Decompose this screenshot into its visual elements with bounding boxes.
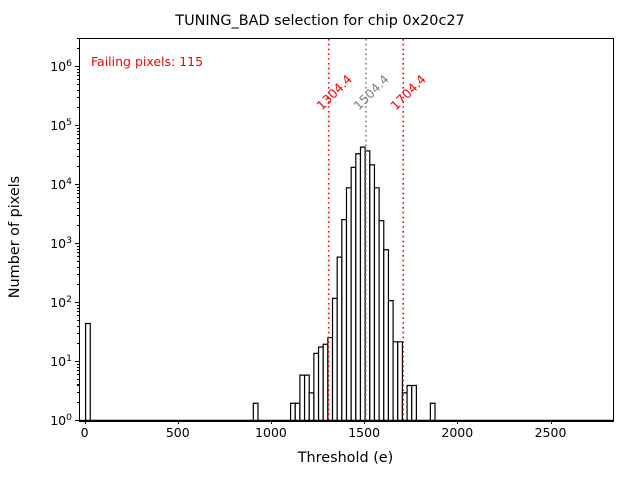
chart-title: TUNING_BAD selection for chip 0x20c27 xyxy=(0,13,640,29)
y-minor-tick-mark xyxy=(77,134,79,135)
y-minor-tick-mark xyxy=(77,202,79,203)
y-tick-mark xyxy=(75,66,79,67)
y-minor-tick-mark xyxy=(77,131,79,132)
y-minor-tick-mark xyxy=(77,374,79,375)
y-minor-tick-mark xyxy=(77,370,79,371)
threshold-vertical-lines xyxy=(80,39,613,421)
y-minor-tick-mark xyxy=(77,187,79,188)
y-tick-mark xyxy=(75,125,79,126)
y-tick-label: 104 xyxy=(50,176,72,192)
y-minor-tick-mark xyxy=(77,364,79,365)
y-minor-tick-mark xyxy=(77,149,79,150)
x-tick-label: 2500 xyxy=(535,425,567,440)
plot-area xyxy=(79,38,614,422)
y-minor-tick-mark xyxy=(77,156,79,157)
y-tick-mark xyxy=(75,184,79,185)
x-tick-mark xyxy=(551,420,552,424)
y-minor-tick-mark xyxy=(77,97,79,98)
y-minor-tick-mark xyxy=(77,225,79,226)
y-minor-tick-mark xyxy=(77,246,79,247)
x-tick-mark xyxy=(271,420,272,424)
y-minor-tick-mark xyxy=(77,367,79,368)
y-minor-tick-mark xyxy=(77,379,79,380)
y-minor-tick-mark xyxy=(77,208,79,209)
y-tick-label: 102 xyxy=(50,294,72,310)
y-minor-tick-mark xyxy=(77,402,79,403)
y-minor-tick-mark xyxy=(77,215,79,216)
y-minor-tick-mark xyxy=(77,48,79,49)
y-tick-mark xyxy=(75,420,79,421)
y-minor-tick-mark xyxy=(77,392,79,393)
y-tick-mark xyxy=(75,243,79,244)
x-tick-label: 500 xyxy=(166,425,190,440)
x-axis-label: Threshold (e) xyxy=(79,450,612,466)
y-minor-tick-mark xyxy=(77,261,79,262)
y-minor-tick-mark xyxy=(77,193,79,194)
y-minor-tick-mark xyxy=(77,138,79,139)
y-minor-tick-mark xyxy=(77,267,79,268)
y-minor-tick-mark xyxy=(77,274,79,275)
plot-inner xyxy=(80,39,613,421)
y-minor-tick-mark xyxy=(77,343,79,344)
y-tick-mark xyxy=(75,302,79,303)
y-minor-tick-mark xyxy=(77,320,79,321)
y-tick-mark xyxy=(75,361,79,362)
x-tick-mark xyxy=(457,420,458,424)
y-minor-tick-mark xyxy=(77,256,79,257)
y-minor-tick-mark xyxy=(77,72,79,73)
y-minor-tick-mark xyxy=(77,79,79,80)
y-minor-tick-mark xyxy=(77,190,79,191)
failing-pixels-annotation: Failing pixels: 115 xyxy=(91,54,203,69)
y-minor-tick-mark xyxy=(77,305,79,306)
y-tick-label: 101 xyxy=(50,353,72,369)
y-minor-tick-mark xyxy=(77,143,79,144)
x-tick-mark xyxy=(178,420,179,424)
x-tick-label: 0 xyxy=(81,425,89,440)
y-minor-tick-mark xyxy=(77,249,79,250)
y-tick-label: 103 xyxy=(50,235,72,251)
y-minor-tick-mark xyxy=(77,333,79,334)
x-tick-label: 1500 xyxy=(348,425,380,440)
y-minor-tick-mark xyxy=(77,166,79,167)
y-minor-tick-mark xyxy=(77,69,79,70)
x-tick-mark xyxy=(364,420,365,424)
y-minor-tick-mark xyxy=(77,315,79,316)
y-minor-tick-mark xyxy=(77,107,79,108)
y-minor-tick-mark xyxy=(77,252,79,253)
y-minor-tick-mark xyxy=(77,84,79,85)
y-minor-tick-mark xyxy=(77,284,79,285)
y-minor-tick-mark xyxy=(77,384,79,385)
x-tick-label: 2000 xyxy=(441,425,473,440)
y-tick-label: 105 xyxy=(50,117,72,133)
y-minor-tick-mark xyxy=(77,90,79,91)
x-tick-label: 1000 xyxy=(255,425,287,440)
y-tick-label: 100 xyxy=(50,412,72,428)
y-minor-tick-mark xyxy=(77,197,79,198)
y-tick-label: 106 xyxy=(50,58,72,74)
y-tick-label-column: 100101102103104105106 xyxy=(0,0,72,480)
matplotlib-figure: TUNING_BAD selection for chip 0x20c27 Nu… xyxy=(0,0,640,480)
y-minor-tick-mark xyxy=(77,326,79,327)
y-minor-tick-mark xyxy=(77,75,79,76)
x-tick-mark xyxy=(85,420,86,424)
y-minor-tick-mark xyxy=(77,128,79,129)
y-minor-tick-mark xyxy=(77,38,79,39)
y-minor-tick-mark xyxy=(77,311,79,312)
y-minor-tick-mark xyxy=(77,308,79,309)
